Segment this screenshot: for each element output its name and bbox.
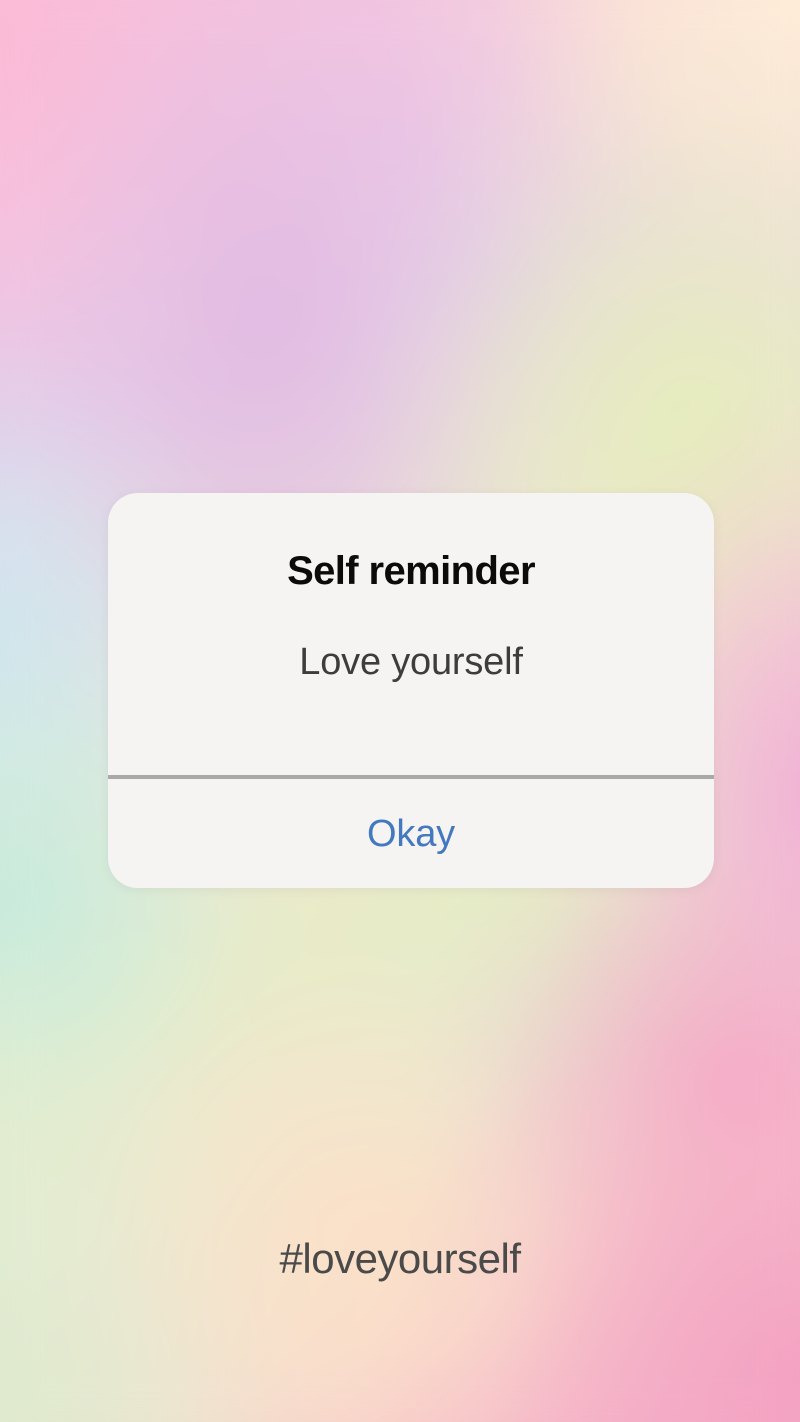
alert-title: Self reminder	[287, 551, 535, 591]
alert-action-area: Okay	[108, 779, 714, 888]
alert-dialog: Self reminder Love yourself Okay	[108, 493, 714, 888]
alert-content-area: Self reminder Love yourself	[108, 493, 714, 775]
hashtag-caption: #loveyourself	[0, 1238, 800, 1280]
okay-button[interactable]: Okay	[367, 815, 455, 853]
alert-message: Love yourself	[299, 591, 522, 681]
story-canvas: Self reminder Love yourself Okay #loveyo…	[0, 0, 800, 1422]
